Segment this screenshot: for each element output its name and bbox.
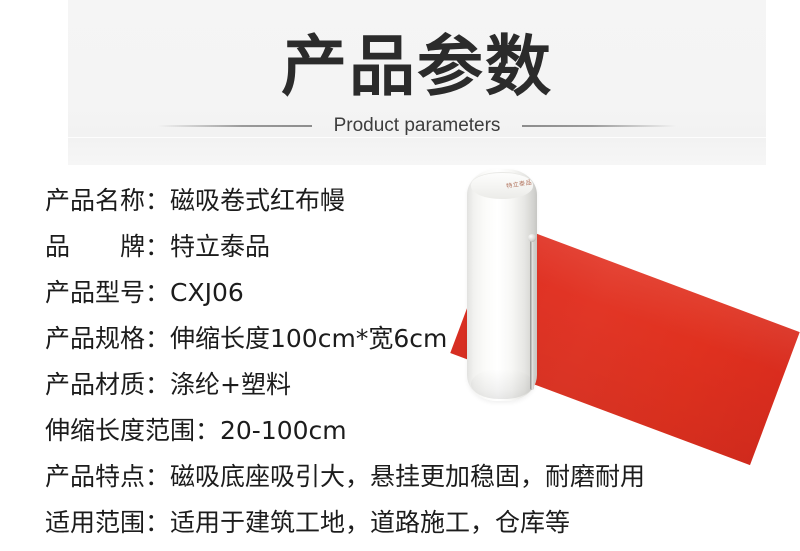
spec-line-brand: 品 牌：特立泰品 xyxy=(45,224,765,270)
subtitle-rule-left xyxy=(158,125,312,127)
product-parameters-page: 产品参数 Product parameters 特立泰品 产品名称：磁吸卷式红布… xyxy=(0,0,800,551)
spec-line-applications: 适用范围：适用于建筑工地，道路施工，仓库等 xyxy=(45,500,765,546)
spec-line-features: 产品特点：磁吸底座吸引大，悬挂更加稳固，耐磨耐用 xyxy=(45,454,765,500)
subtitle-row: Product parameters xyxy=(158,112,676,140)
subtitle-rule-right xyxy=(522,125,676,127)
page-subtitle: Product parameters xyxy=(312,115,523,137)
page-title: 产品参数 xyxy=(68,28,766,106)
spec-line-product-name: 产品名称：磁吸卷式红布幔 xyxy=(45,178,765,224)
header-banner: 产品参数 Product parameters xyxy=(68,0,766,165)
spec-line-material: 产品材质：涤纶+塑料 xyxy=(45,362,765,408)
specification-list: 产品名称：磁吸卷式红布幔 品 牌：特立泰品 产品型号：CXJ06 产品规格：伸缩… xyxy=(45,178,765,546)
spec-line-length-range: 伸缩长度范围：20-100cm xyxy=(45,408,765,454)
spec-line-dimensions: 产品规格：伸缩长度100cm*宽6cm xyxy=(45,316,765,362)
spec-line-model: 产品型号：CXJ06 xyxy=(45,270,765,316)
